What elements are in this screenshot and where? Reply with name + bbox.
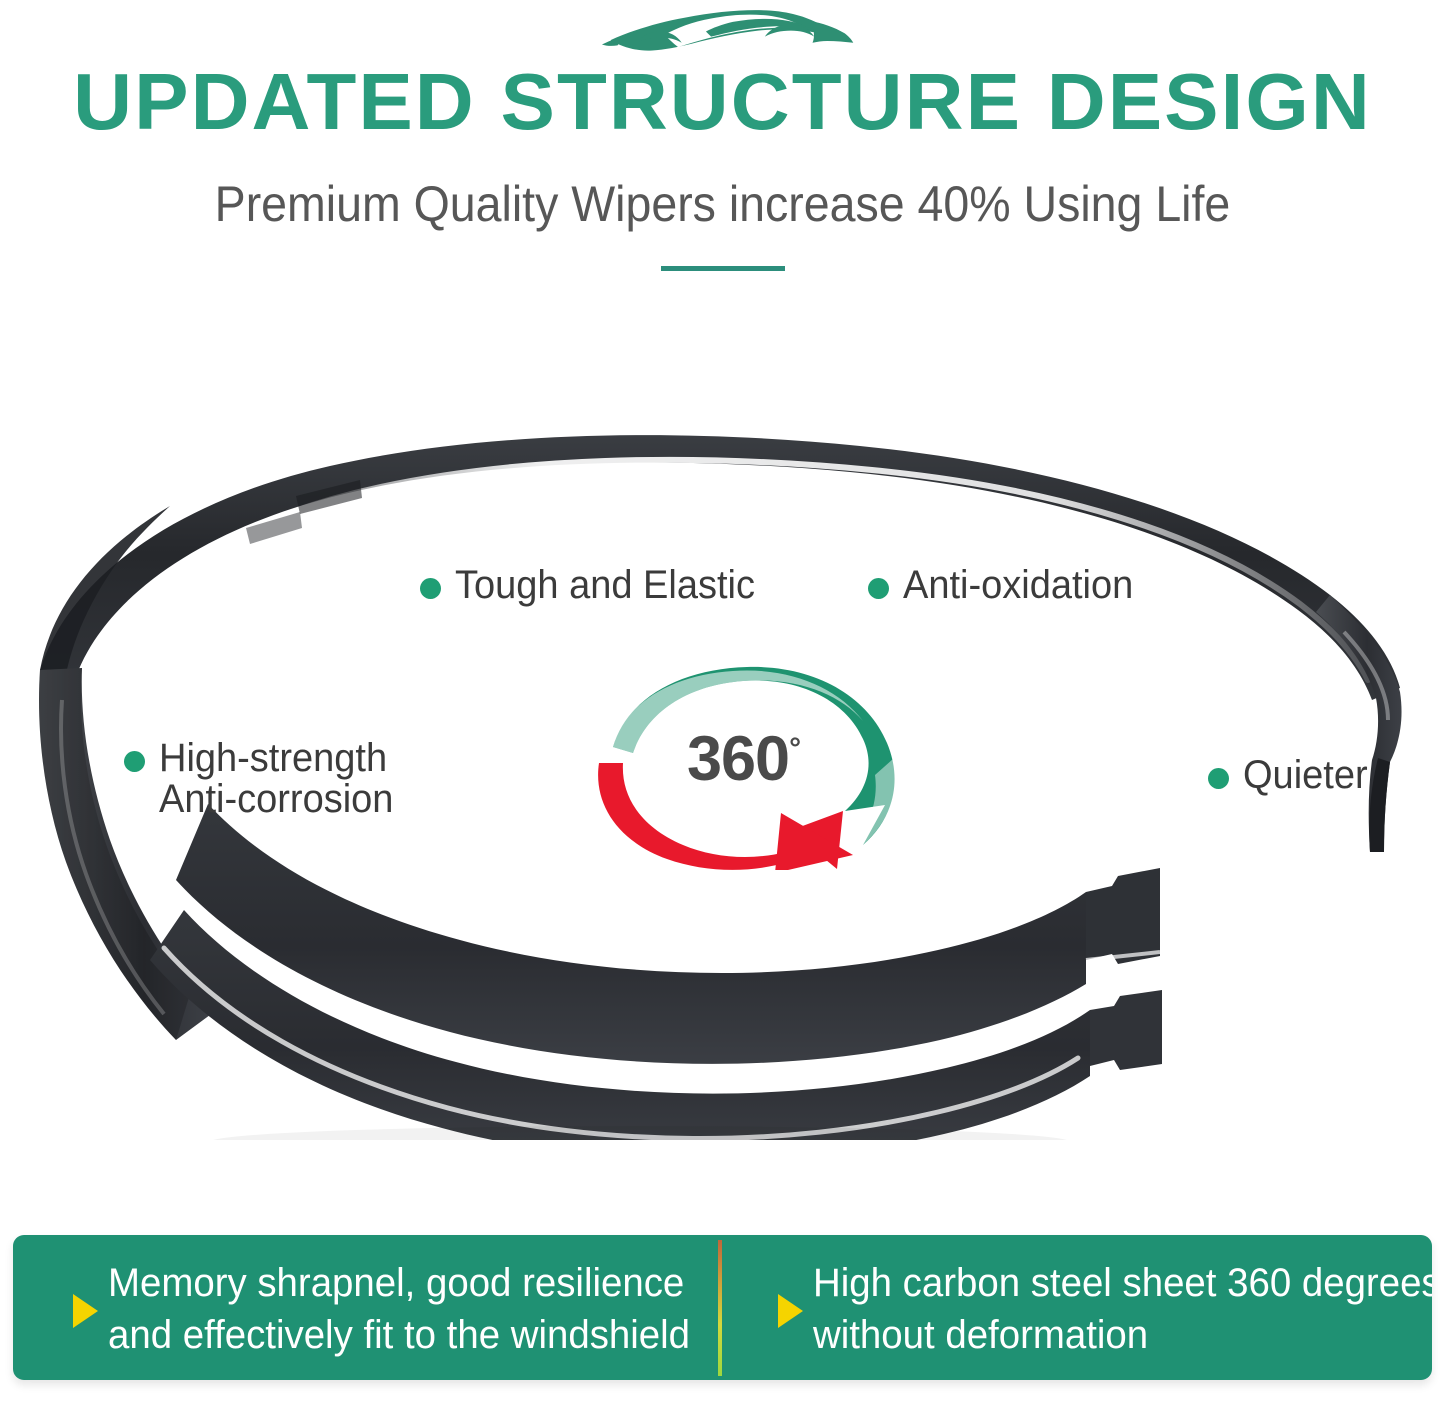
- banner-vertical-divider: [718, 1240, 722, 1376]
- triangle-right-icon: [73, 1294, 98, 1328]
- feature-label: Tough and Elastic: [455, 565, 755, 606]
- feature-label: Anti-oxidation: [903, 565, 1133, 606]
- feature-banner: Memory shrapnel, good resilience and eff…: [13, 1235, 1432, 1380]
- bullet-dot-icon: [868, 578, 889, 599]
- banner-item-high-carbon-steel: High carbon steel sheet 360 degrees with…: [718, 1235, 1432, 1380]
- bullet-dot-icon: [420, 578, 441, 599]
- page-title: UPDATED STRUCTURE DESIGN: [0, 62, 1445, 142]
- banner-line1: High carbon steel sheet 360 degrees: [813, 1261, 1432, 1305]
- rotation-360-badge-icon: [575, 655, 925, 870]
- bullet-dot-icon: [124, 751, 145, 772]
- feature-label: Quieter: [1243, 755, 1368, 796]
- title-underline-rule: [661, 266, 785, 271]
- feature-label-line2: Anti-corrosion: [159, 779, 393, 820]
- banner-item-text: Memory shrapnel, good resilience and eff…: [108, 1258, 690, 1360]
- feature-anti-oxidation: Anti-oxidation: [868, 565, 1145, 606]
- bullet-dot-icon: [1208, 768, 1229, 789]
- page-subtitle: Premium Quality Wipers increase 40% Usin…: [51, 178, 1395, 231]
- feature-label-line1: High-strength: [159, 736, 387, 780]
- banner-line2: without deformation: [813, 1310, 1432, 1361]
- feature-label-group: High-strength Anti-corrosion: [159, 738, 393, 820]
- banner-line1: Memory shrapnel, good resilience: [108, 1261, 684, 1305]
- triangle-right-icon: [778, 1294, 803, 1328]
- feature-quieter: Quieter: [1208, 755, 1374, 796]
- banner-line2: and effectively fit to the windshield: [108, 1310, 690, 1361]
- banner-item-text: High carbon steel sheet 360 degrees with…: [813, 1258, 1432, 1360]
- sports-car-silhouette-icon: [595, 2, 855, 54]
- feature-tough-and-elastic: Tough and Elastic: [420, 565, 771, 606]
- banner-item-memory-shrapnel: Memory shrapnel, good resilience and eff…: [13, 1235, 718, 1380]
- feature-high-strength-anti-corrosion: High-strength Anti-corrosion: [124, 738, 406, 820]
